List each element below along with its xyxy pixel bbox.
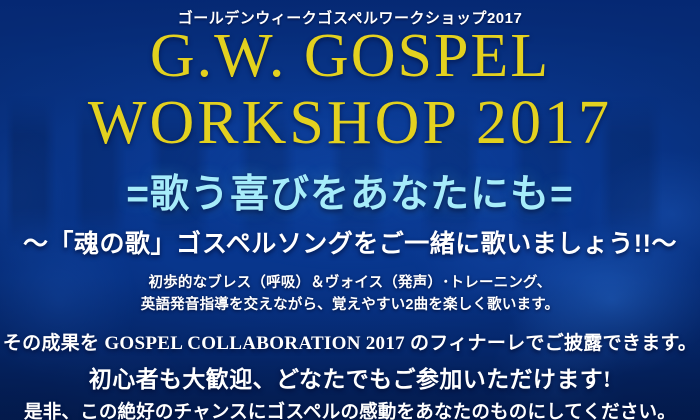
description-block: 初歩的なブレス（呼吸）＆ヴォイス（発声）･トレーニング、 英語発音指導を交えなが… (141, 272, 559, 316)
closing-note: 是非、この絶好のチャンスにゴスペルの感動をあなたのものにしてください。 (24, 398, 676, 420)
description-line-1: 初歩的なブレス（呼吸）＆ヴォイス（発声）･トレーニング、 (141, 272, 559, 294)
description-line-2: 英語発音指導を交えながら、覚えやすい2曲を楽しく歌います。 (141, 294, 559, 316)
gospel-workshop-poster: ゴールデンウィークゴスペルワークショップ2017 G.W. GOSPEL WOR… (0, 0, 700, 420)
finale-note: その成果を GOSPEL COLLABORATION 2017 のフィナーレでご… (3, 328, 697, 355)
page-title-line-2: WORKSHOP 2017 (88, 93, 612, 154)
page-title-line-1: G.W. GOSPEL (150, 26, 550, 87)
tagline: =歌う喜びをあなたにも= (126, 163, 574, 219)
welcome-note: 初心者も大歓迎、どなたでもご参加いただけます! (89, 360, 611, 394)
poster-content: ゴールデンウィークゴスペルワークショップ2017 G.W. GOSPEL WOR… (0, 0, 700, 420)
sub-tagline: 〜「魂の歌」ゴスペルソングをご一緒に歌いましょう!!〜 (23, 224, 677, 260)
